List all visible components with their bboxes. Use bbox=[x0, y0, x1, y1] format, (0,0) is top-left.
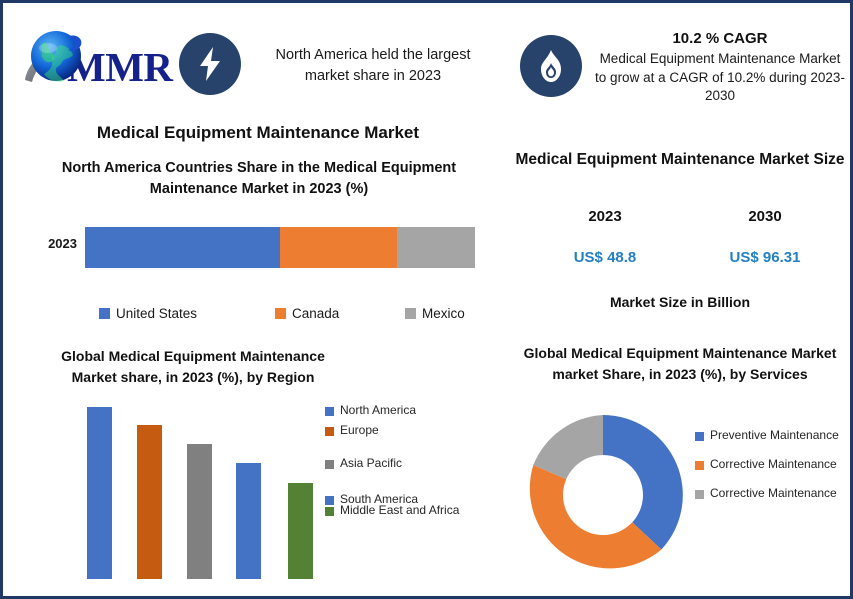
header-note: North America held the largest market sh… bbox=[257, 45, 489, 86]
legend-label: Corrective Maintenance bbox=[710, 457, 837, 472]
legend-label: North America bbox=[340, 403, 416, 417]
market-size-value-end: US$ 96.31 bbox=[695, 249, 835, 266]
legend-item-corrective-maintenance-1: Corrective Maintenance bbox=[695, 457, 845, 472]
market-size-title: Medical Equipment Maintenance Market Siz… bbox=[515, 149, 845, 171]
market-size-years: 2023 2030 bbox=[535, 208, 835, 225]
legend-item-middle-east-and-africa: Middle East and Africa bbox=[325, 503, 490, 517]
region-bar-chart bbox=[77, 401, 327, 579]
legend-swatch-icon bbox=[695, 490, 704, 499]
market-size-year-end: 2030 bbox=[695, 208, 835, 225]
legend-item-asia-pacific: Asia Pacific bbox=[325, 456, 490, 470]
stacked-bar-legend: United States Canada Mexico bbox=[99, 306, 499, 321]
services-donut-legend: Preventive Maintenance Corrective Mainte… bbox=[695, 428, 845, 515]
legend-item-corrective-maintenance-2: Corrective Maintenance bbox=[695, 486, 845, 501]
infographic-page: MMR North America held the largest marke… bbox=[0, 0, 853, 599]
legend-swatch-icon bbox=[325, 427, 334, 436]
lightning-bolt-icon bbox=[179, 33, 241, 95]
legend-swatch-icon bbox=[695, 461, 704, 470]
legend-item-europe: Europe bbox=[325, 423, 490, 437]
mmr-logo: MMR bbox=[21, 21, 181, 99]
cagr-block: 10.2 % CAGR Medical Equipment Maintenanc… bbox=[595, 30, 845, 106]
services-donut-chart bbox=[519, 411, 687, 579]
legend-item-mexico: Mexico bbox=[405, 306, 465, 321]
stacked-segment-united-states bbox=[85, 227, 280, 268]
region-chart-title: Global Medical Equipment Maintenance Mar… bbox=[43, 346, 343, 388]
bar-north-america bbox=[87, 407, 112, 579]
legend-label: Corrective Maintenance bbox=[710, 486, 837, 501]
legend-label: Europe bbox=[340, 423, 379, 437]
legend-swatch-icon bbox=[275, 308, 286, 319]
legend-swatch-icon bbox=[99, 308, 110, 319]
stacked-bar-track bbox=[85, 227, 475, 268]
stacked-segment-mexico bbox=[397, 227, 475, 268]
legend-label: United States bbox=[116, 306, 197, 321]
legend-label: Middle East and Africa bbox=[340, 503, 459, 517]
cagr-description: Medical Equipment Maintenance Market to … bbox=[595, 50, 845, 106]
market-size-values: US$ 48.8 US$ 96.31 bbox=[535, 249, 835, 266]
legend-item-united-states: United States bbox=[99, 306, 275, 321]
region-bar-chart-legend: North America Europe Asia Pacific South … bbox=[325, 403, 490, 529]
market-size-value-start: US$ 48.8 bbox=[535, 249, 675, 266]
header: MMR North America held the largest marke… bbox=[3, 3, 850, 115]
legend-swatch-icon bbox=[325, 407, 334, 416]
legend-item-canada: Canada bbox=[275, 306, 405, 321]
legend-label: Mexico bbox=[422, 306, 465, 321]
stacked-bar-chart: 2023 bbox=[19, 223, 489, 275]
market-size-year-start: 2023 bbox=[535, 208, 675, 225]
bar-europe bbox=[137, 425, 162, 579]
stacked-bar-category-label: 2023 bbox=[19, 236, 77, 251]
legend-label: Preventive Maintenance bbox=[710, 428, 839, 443]
legend-item-preventive-maintenance: Preventive Maintenance bbox=[695, 428, 845, 443]
legend-swatch-icon bbox=[325, 496, 334, 505]
legend-swatch-icon bbox=[405, 308, 416, 319]
bar-asia-pacific bbox=[187, 444, 212, 579]
stacked-segment-canada bbox=[280, 227, 397, 268]
legend-label: Canada bbox=[292, 306, 339, 321]
market-size-unit-note: Market Size in Billion bbox=[515, 294, 845, 310]
bar-south-america bbox=[236, 463, 261, 579]
legend-swatch-icon bbox=[695, 432, 704, 441]
services-chart-title: Global Medical Equipment Maintenance Mar… bbox=[515, 343, 845, 385]
legend-item-north-america: North America bbox=[325, 403, 490, 417]
stacked-chart-title: North America Countries Share in the Med… bbox=[43, 158, 475, 200]
cagr-headline: 10.2 % CAGR bbox=[595, 30, 845, 47]
legend-swatch-icon bbox=[325, 460, 334, 469]
legend-swatch-icon bbox=[325, 507, 334, 516]
globe-icon bbox=[21, 24, 93, 96]
legend-label: Asia Pacific bbox=[340, 456, 402, 470]
bar-middle-east-and-africa bbox=[288, 483, 313, 579]
flame-icon bbox=[520, 35, 582, 97]
page-title: Medical Equipment Maintenance Market bbox=[23, 123, 493, 143]
